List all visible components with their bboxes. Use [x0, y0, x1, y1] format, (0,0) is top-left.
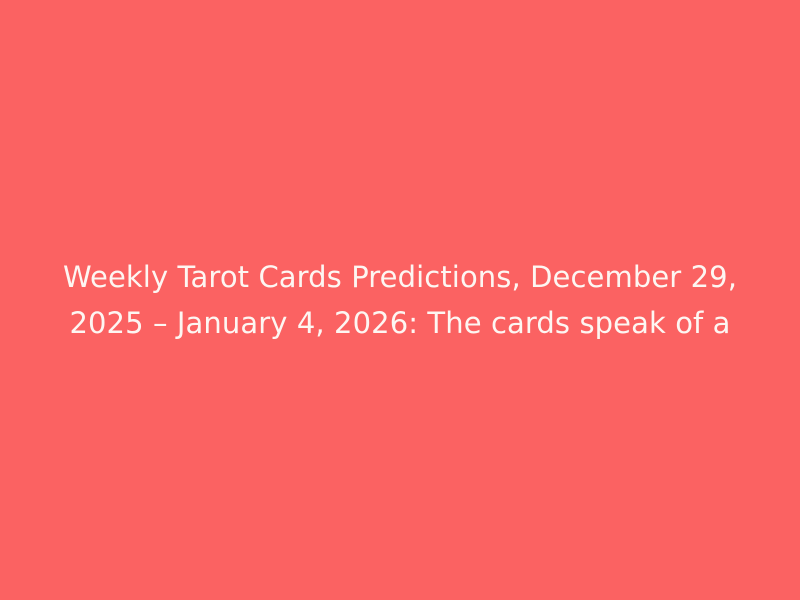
page-title: Weekly Tarot Cards Predictions, December…	[47, 254, 753, 346]
article-preview-card: Weekly Tarot Cards Predictions, December…	[0, 0, 800, 600]
